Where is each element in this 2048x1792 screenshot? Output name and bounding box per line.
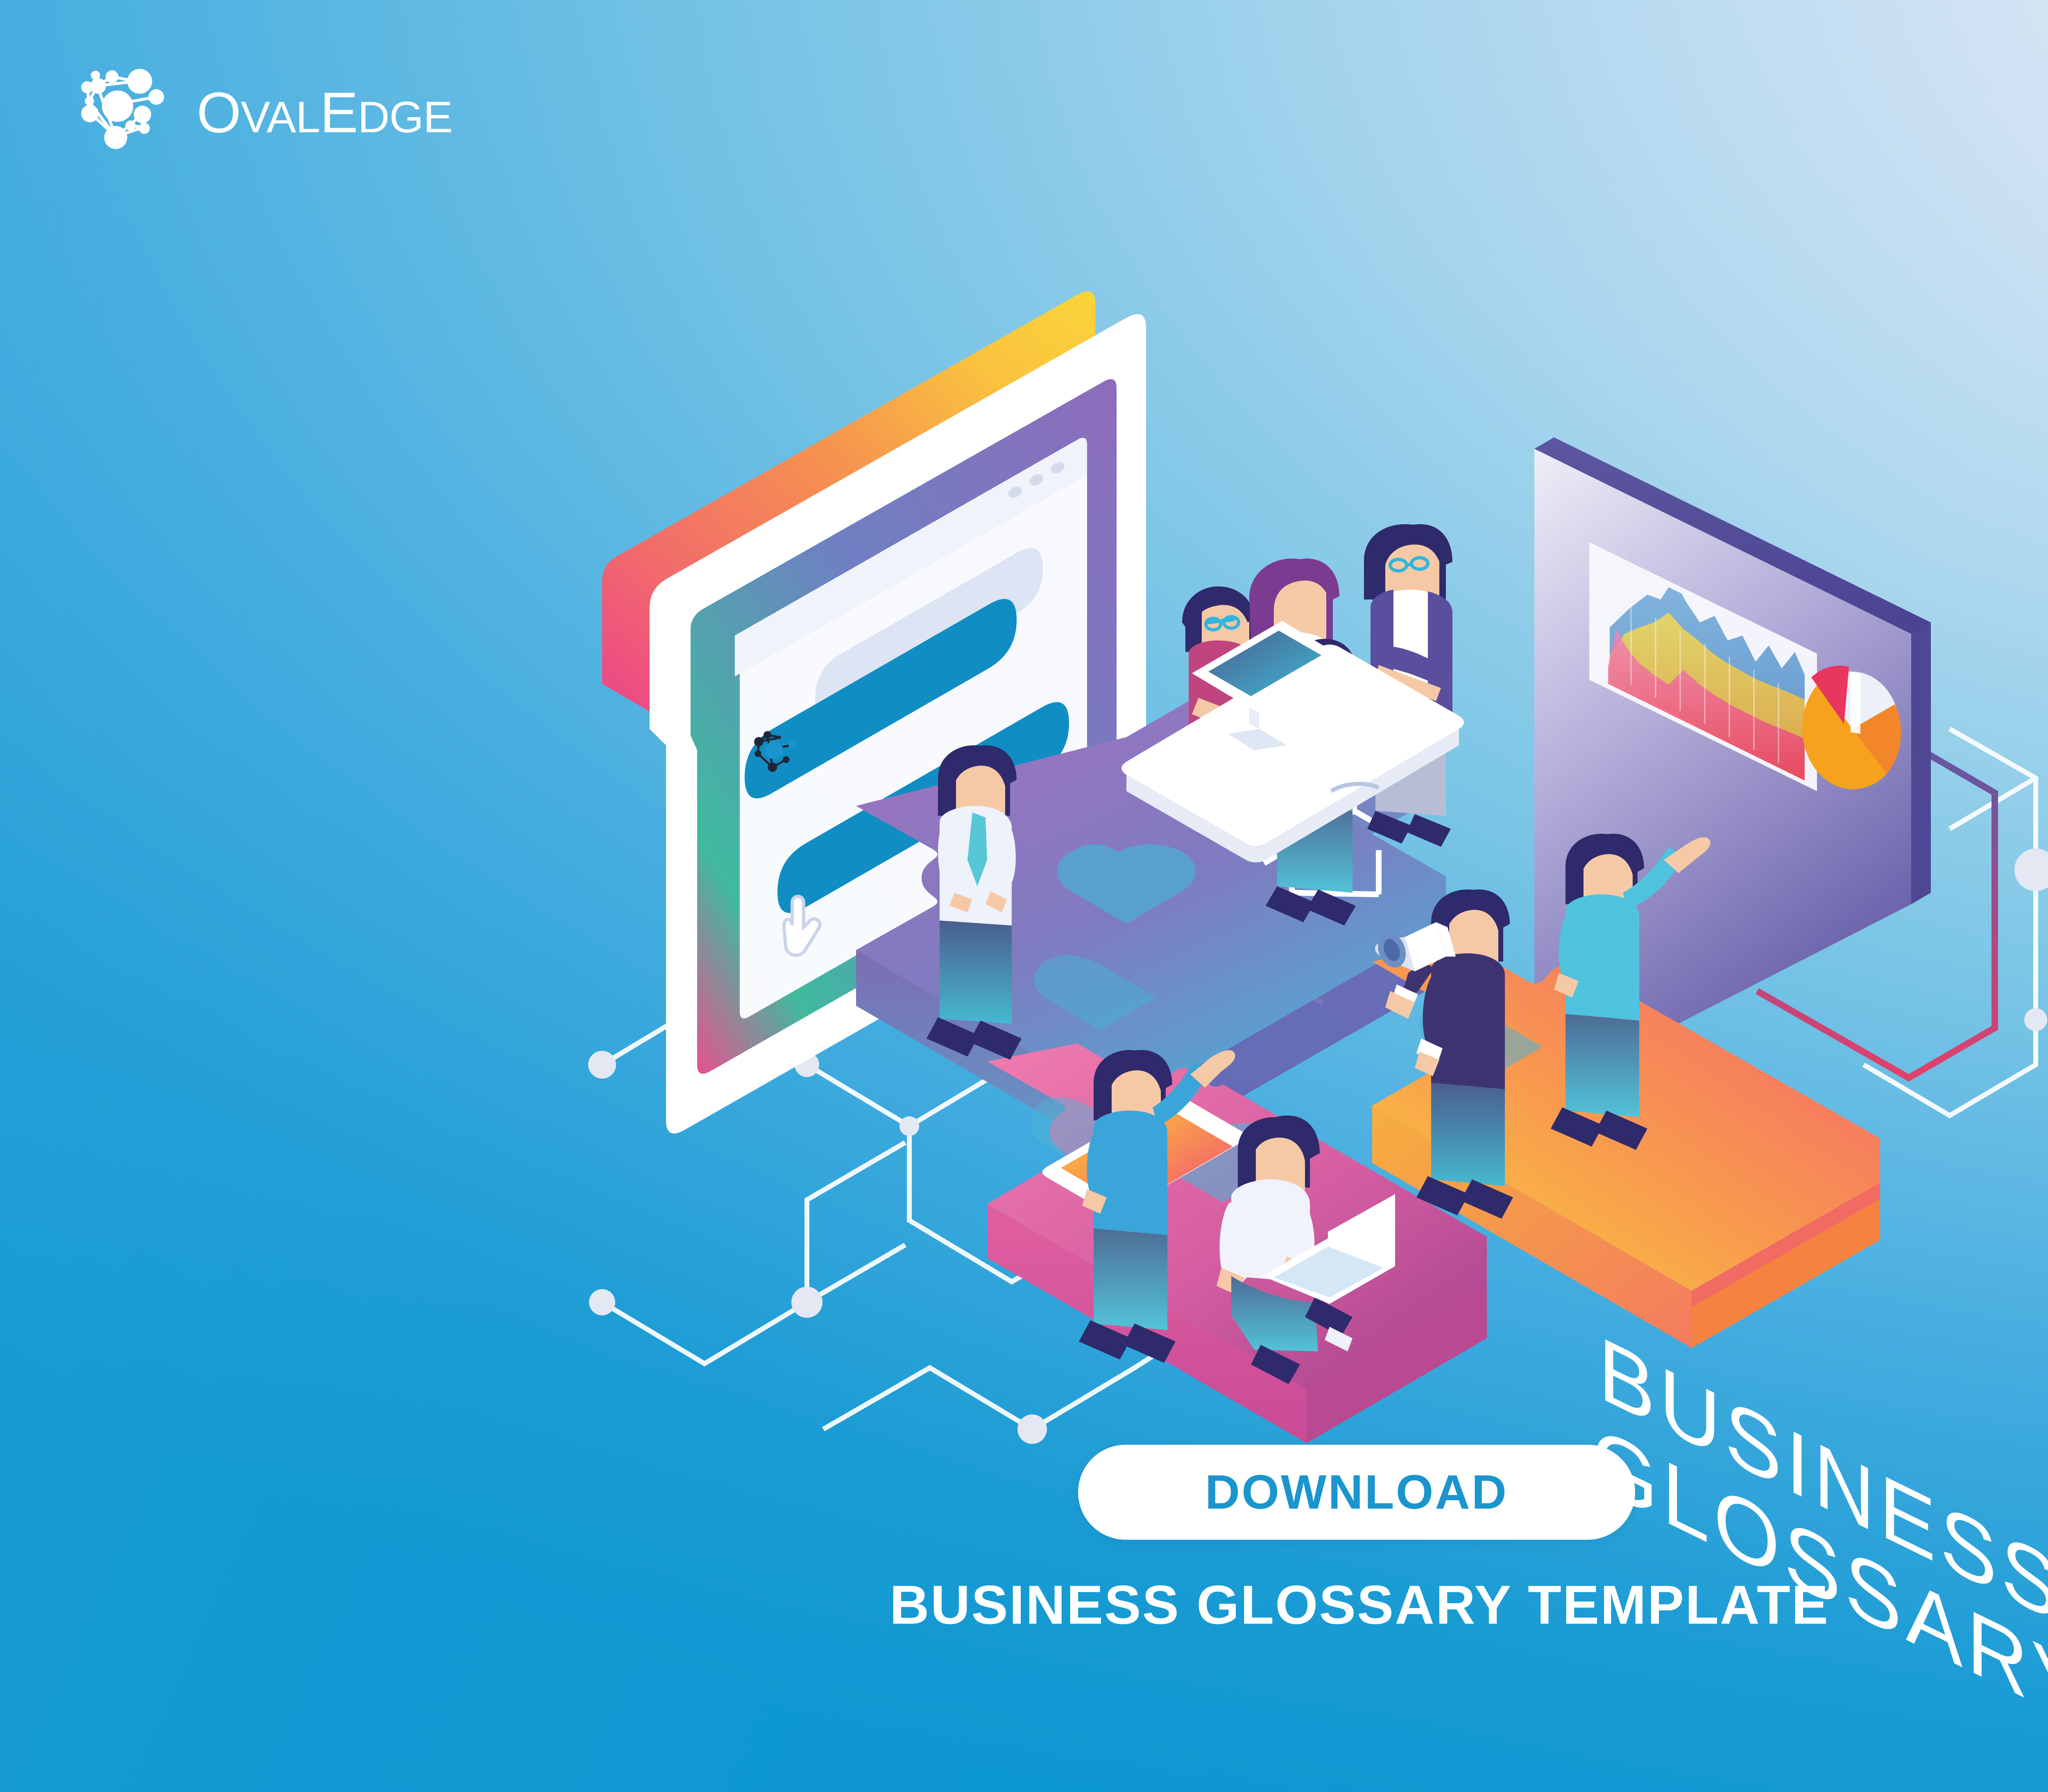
person-businessman-standing bbox=[927, 745, 1022, 1060]
download-button[interactable]: DOWNLOAD bbox=[1078, 1445, 1635, 1540]
page-headline: BUSINESS GLOSSARY TEMPLATE bbox=[0, 1574, 2048, 1636]
hero-illustration: BUSINESS GLOSSARY bbox=[553, 238, 2048, 1425]
connector-nodes-right bbox=[2014, 848, 2048, 1031]
wordmark-o: O bbox=[197, 84, 241, 141]
wordmark-val: VAL bbox=[241, 95, 320, 139]
board-right-edge bbox=[1911, 622, 1931, 904]
wordmark-e: E bbox=[320, 84, 358, 141]
wordmark-dge: DGE bbox=[358, 95, 452, 139]
poster-canvas: OVALEDGE bbox=[0, 0, 2048, 1792]
network-nodes-icon bbox=[70, 57, 180, 168]
download-button-label: DOWNLOAD bbox=[1205, 1464, 1508, 1520]
brand-logo[interactable]: OVALEDGE bbox=[70, 57, 452, 168]
brand-wordmark: OVALEDGE bbox=[197, 84, 452, 141]
